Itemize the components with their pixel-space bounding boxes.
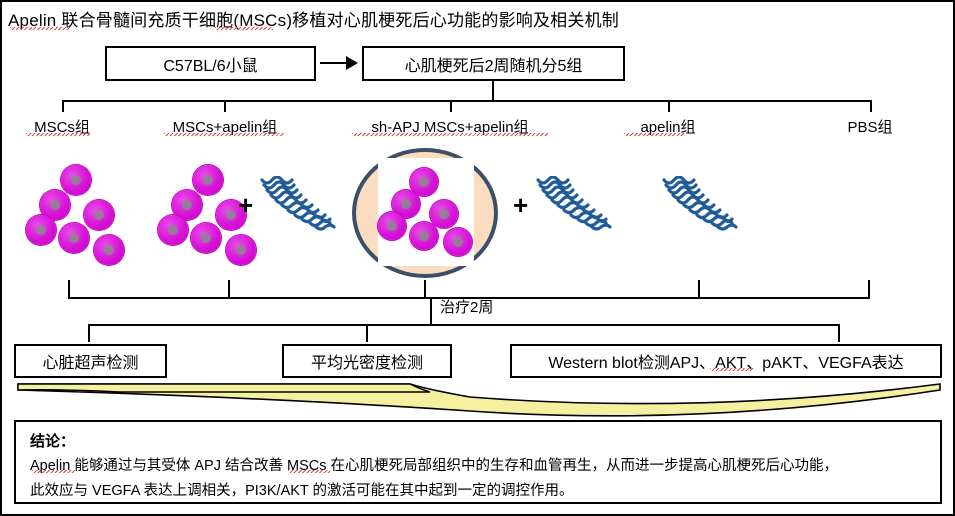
group-label-pbs: PBS组 [818, 116, 922, 137]
spellcheck-underline [288, 470, 330, 473]
apelin-peptide-helix [258, 176, 336, 238]
treatment-duration-label: 治疗2周 [440, 296, 560, 317]
stem-cell [444, 228, 472, 256]
conclusion-box: 结论： Apelin 能够通过与其受体 APJ 结合改善 MSCs 在心肌梗死局… [14, 420, 942, 504]
stem-cell [191, 223, 221, 253]
group-tick [870, 100, 872, 112]
stem-cell [59, 223, 89, 253]
spellcheck-underline [624, 133, 684, 136]
converge-tick [698, 280, 700, 298]
assay-tick [366, 324, 368, 342]
apelin-peptide-helix [660, 176, 738, 238]
spellcheck-underline [710, 368, 754, 371]
spellcheck-underline [215, 27, 273, 30]
group-tick [450, 100, 452, 112]
assay-tick [838, 324, 840, 342]
spellcheck-underline [164, 133, 284, 136]
assay-tick [88, 324, 90, 342]
cell-cluster-mscs [26, 165, 136, 265]
group-tick [668, 100, 670, 112]
stem-cell [158, 215, 188, 245]
treatment-connector [430, 297, 432, 325]
stem-cell [193, 165, 223, 195]
distribution-bar [62, 100, 872, 102]
apelin-peptide-helix [534, 176, 612, 238]
arrow-head-icon [346, 56, 358, 70]
connector-vertical [492, 81, 494, 101]
group-tick [62, 100, 64, 112]
assay-box-western-blot: Western blot检测APJ、AKT、pAKT、VEGFA表达 [510, 344, 942, 378]
conclusion-line-1: Apelin 能够通过与其受体 APJ 结合改善 MSCs 在心肌梗死局部组织中… [30, 454, 838, 475]
stem-cell [226, 235, 256, 265]
shapj-circle-group [352, 148, 498, 278]
stem-cell [61, 165, 91, 195]
spellcheck-underline [10, 27, 70, 30]
stem-cell [84, 200, 114, 230]
conclusion-heading: 结论： [30, 430, 75, 451]
stem-cell [430, 200, 458, 228]
page-title: Apelin 联合骨髓间充质干细胞(MSCs)移植对心肌梗死后心功能的影响及相关… [8, 6, 619, 31]
converge-tick [868, 280, 870, 298]
spellcheck-underline [352, 133, 548, 136]
assay-box-optical-density: 平均光密度检测 [282, 344, 452, 378]
animal-box: C57BL/6小鼠 [105, 46, 316, 81]
grouping-box: 心肌梗死后2周随机分5组 [362, 46, 625, 81]
converge-tick [68, 280, 70, 298]
group-tick [224, 100, 226, 112]
assay-bar [88, 324, 840, 326]
stem-cell [410, 222, 438, 250]
diagram-canvas: Apelin 联合骨髓间充质干细胞(MSCs)移植对心肌梗死后心功能的影响及相关… [0, 0, 955, 516]
spellcheck-underline [26, 133, 90, 136]
plus-symbol: + [513, 192, 528, 218]
converge-tick [228, 280, 230, 298]
plus-symbol: + [238, 192, 253, 218]
spellcheck-underline [32, 470, 76, 473]
stem-cell [94, 235, 124, 265]
stem-cell [26, 215, 56, 245]
assay-box-echocardiography: 心脏超声检测 [14, 344, 167, 378]
converge-tick [424, 280, 426, 298]
stem-cell [378, 212, 406, 240]
conclusion-line-2: 此效应与 VEGFA 表达上调相关，PI3K/AKT 的激活可能在其中起到一定的… [30, 479, 574, 500]
arrow-shaft [320, 62, 348, 64]
